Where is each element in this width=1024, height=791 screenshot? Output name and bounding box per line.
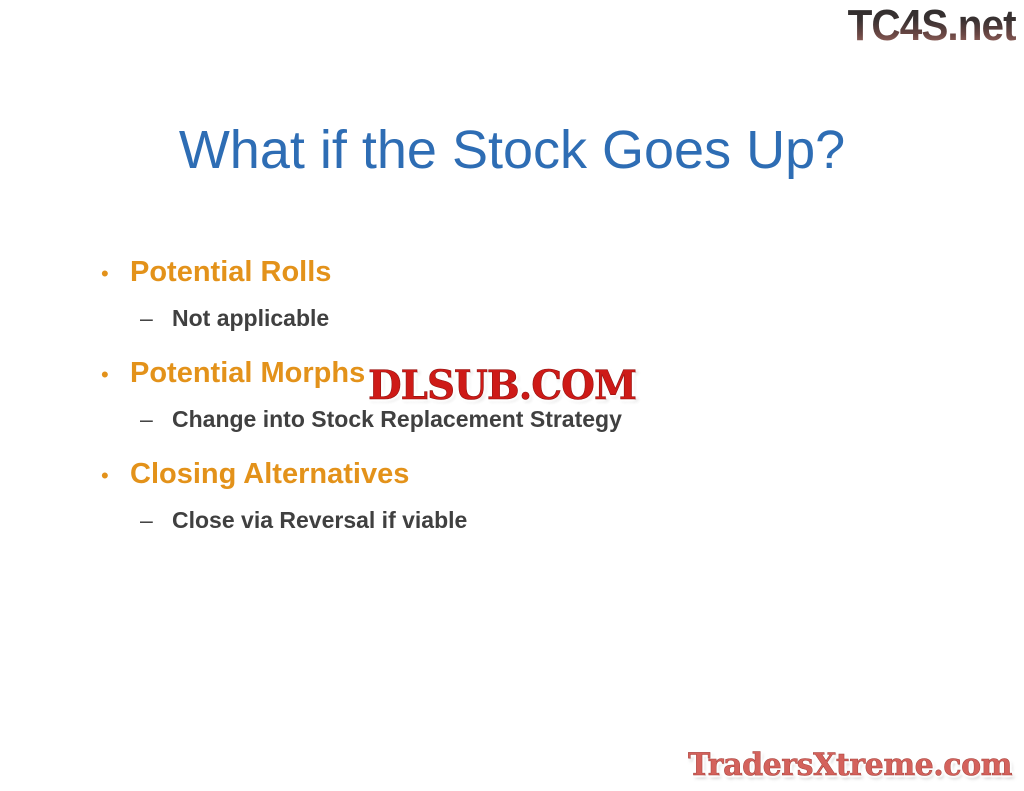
bullet-group-3: • Closing Alternatives – Close via Rever… bbox=[96, 454, 956, 549]
bullet-label: Closing Alternatives bbox=[130, 454, 409, 494]
bullet-marker-icon: • bbox=[96, 254, 130, 294]
bullet-marker-icon: • bbox=[96, 355, 130, 395]
dlsub-watermark: DLSUB.COM bbox=[368, 364, 636, 408]
tc4s-logo: TC4S.net bbox=[848, 2, 1016, 50]
subbullet-marker-icon: – bbox=[140, 299, 172, 337]
subbullet-item-not-applicable: – Not applicable bbox=[96, 299, 956, 347]
subbullet-marker-icon: – bbox=[140, 400, 172, 438]
subbullet-marker-icon: – bbox=[140, 501, 172, 539]
slide-canvas: TC4S.net What if the Stock Goes Up? • Po… bbox=[0, 0, 1024, 791]
bullet-item-potential-rolls: • Potential Rolls bbox=[96, 252, 956, 299]
subbullet-label: Not applicable bbox=[172, 299, 329, 337]
tradersxtreme-logo: TradersXtreme.com bbox=[688, 747, 1012, 783]
bullet-label: Potential Morphs bbox=[130, 353, 365, 393]
bullet-marker-icon: • bbox=[96, 456, 130, 496]
bullet-item-closing-alternatives: • Closing Alternatives bbox=[96, 454, 956, 501]
subbullet-item-close-via-reversal: – Close via Reversal if viable bbox=[96, 501, 956, 549]
page-title: What if the Stock Goes Up? bbox=[0, 118, 1024, 182]
subbullet-label: Close via Reversal if viable bbox=[172, 501, 467, 539]
bullet-label: Potential Rolls bbox=[130, 252, 331, 292]
bullet-group-1: • Potential Rolls – Not applicable bbox=[96, 252, 956, 347]
